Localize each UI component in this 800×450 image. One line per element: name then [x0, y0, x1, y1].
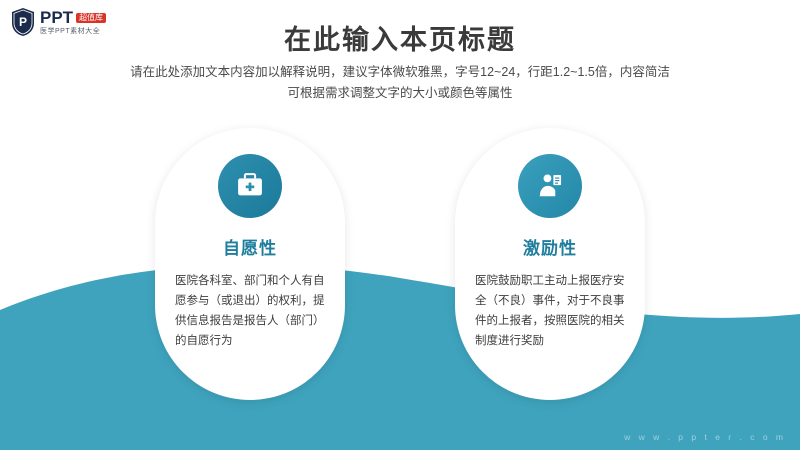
person-report-icon [533, 169, 567, 203]
card-body: 医院各科室、部门和个人有自愿参与（或退出）的权利，提供信息报告是报告人（部门）的… [175, 271, 325, 351]
logo-badge: 超值库 [76, 13, 106, 23]
page-subtitle: 请在此处添加文本内容加以解释说明，建议字体微软雅黑，字号12~24，行距1.2~… [0, 62, 800, 104]
subtitle-line-2: 可根据需求调整文字的大小或颜色等属性 [0, 83, 800, 104]
card-incentive[interactable]: 激励性 医院鼓励职工主动上报医疗安全（不良）事件，对于不良事件的上报者，按照医院… [455, 128, 645, 400]
medical-kit-icon [233, 169, 267, 203]
card-title: 自愿性 [223, 234, 277, 259]
logo-row-primary: PPT 超值库 [40, 9, 106, 26]
logo-tagline: 医学PPT素材大全 [40, 28, 106, 35]
card-title: 激励性 [523, 234, 577, 259]
svg-text:P: P [19, 15, 27, 29]
shield-icon: P [10, 7, 36, 37]
logo-texts: PPT 超值库 医学PPT素材大全 [40, 9, 106, 35]
medical-kit-icon-circle [218, 154, 282, 218]
slide: P PPT 超值库 医学PPT素材大全 在此输入本页标题 请在此处添加文本内容加… [0, 0, 800, 450]
logo: P PPT 超值库 医学PPT素材大全 [10, 6, 150, 38]
card-body: 医院鼓励职工主动上报医疗安全（不良）事件，对于不良事件的上报者，按照医院的相关制… [475, 271, 625, 351]
footer-watermark: w w w . p p t e r . c o m [624, 432, 786, 442]
card-group: 自愿性 医院各科室、部门和个人有自愿参与（或退出）的权利，提供信息报告是报告人（… [0, 128, 800, 428]
card-voluntary[interactable]: 自愿性 医院各科室、部门和个人有自愿参与（或退出）的权利，提供信息报告是报告人（… [155, 128, 345, 400]
person-report-icon-circle [518, 154, 582, 218]
subtitle-line-1: 请在此处添加文本内容加以解释说明，建议字体微软雅黑，字号12~24，行距1.2~… [0, 62, 800, 83]
logo-name: PPT [40, 9, 73, 26]
